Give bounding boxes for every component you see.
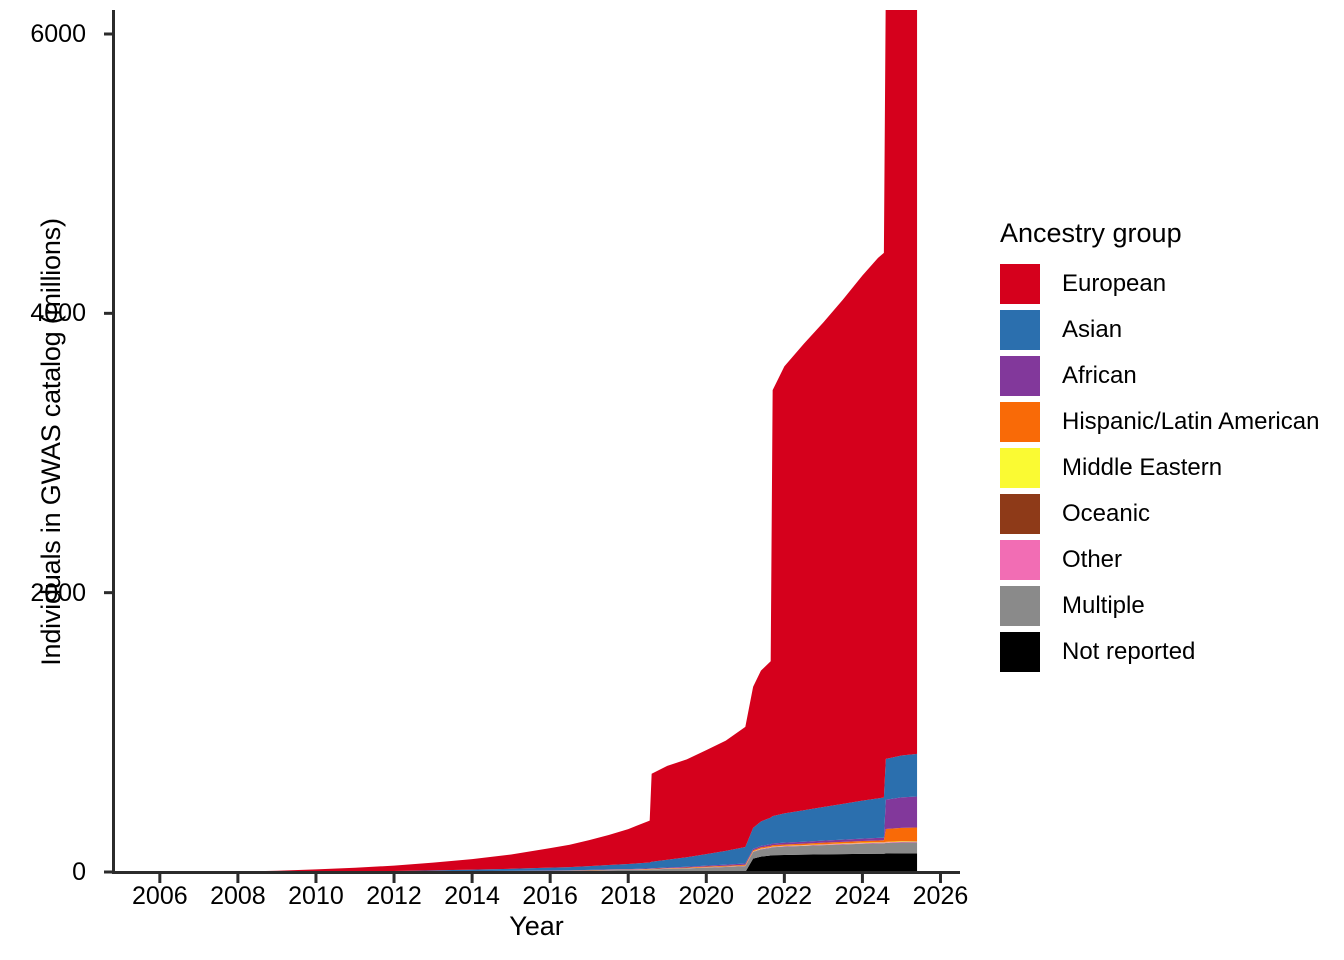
legend-swatch-icon [1000,494,1040,534]
y-tick-label: 2000 [30,581,86,606]
legend-item-label: African [1062,364,1137,388]
legend-swatch-icon [1000,586,1040,626]
x-tick-label: 2006 [132,884,188,909]
legend-item-label: Not reported [1062,640,1195,664]
legend-item[interactable]: Hispanic/Latin American [1000,399,1344,445]
stacked-area-plot [101,10,971,894]
legend-item-label: Asian [1062,318,1122,342]
x-tick-label: 2022 [757,884,813,909]
x-tick-label: 2026 [913,884,969,909]
legend: Ancestry group EuropeanAsianAfricanHispa… [1000,218,1344,675]
x-tick-label: 2024 [835,884,891,909]
x-tick-label: 2012 [366,884,422,909]
legend-item[interactable]: Other [1000,537,1344,583]
legend-item-label: European [1062,272,1166,296]
legend-item[interactable]: African [1000,353,1344,399]
legend-swatch-icon [1000,540,1040,580]
x-tick-label: 2010 [288,884,344,909]
legend-item[interactable]: European [1000,261,1344,307]
legend-item[interactable]: Oceanic [1000,491,1344,537]
y-axis-tick-marks [104,34,113,872]
chart-page: Individuals in GWAS catalog (millions) 6… [0,0,1344,960]
legend-title: Ancestry group [1000,218,1344,248]
x-tick-label: 2008 [210,884,266,909]
legend-item[interactable]: Not reported [1000,629,1344,675]
x-tick-label: 2014 [444,884,500,909]
area-series-group [218,10,917,872]
legend-swatch-icon [1000,448,1040,488]
legend-items: EuropeanAsianAfricanHispanic/Latin Ameri… [1000,261,1344,675]
legend-item-label: Other [1062,548,1122,572]
legend-item[interactable]: Multiple [1000,583,1344,629]
x-tick-label: 2016 [522,884,578,909]
y-tick-label: 6000 [30,22,86,47]
legend-swatch-icon [1000,402,1040,442]
x-tick-label: 2020 [678,884,734,909]
x-axis-title: Year [113,910,960,942]
legend-swatch-icon [1000,310,1040,350]
y-tick-label: 4000 [30,301,86,326]
legend-item-label: Multiple [1062,594,1145,618]
legend-item[interactable]: Asian [1000,307,1344,353]
legend-item-label: Middle Eastern [1062,456,1222,480]
legend-item-label: Oceanic [1062,502,1150,526]
legend-item-label: Hispanic/Latin American [1062,410,1319,434]
legend-swatch-icon [1000,356,1040,396]
y-tick-label: 0 [72,860,86,885]
y-axis-title: Individuals in GWAS catalog (millions) [34,10,68,874]
x-tick-label: 2018 [600,884,656,909]
legend-swatch-icon [1000,264,1040,304]
area-series [218,10,917,872]
plot-area [101,10,948,874]
legend-item[interactable]: Middle Eastern [1000,445,1344,491]
legend-swatch-icon [1000,632,1040,672]
